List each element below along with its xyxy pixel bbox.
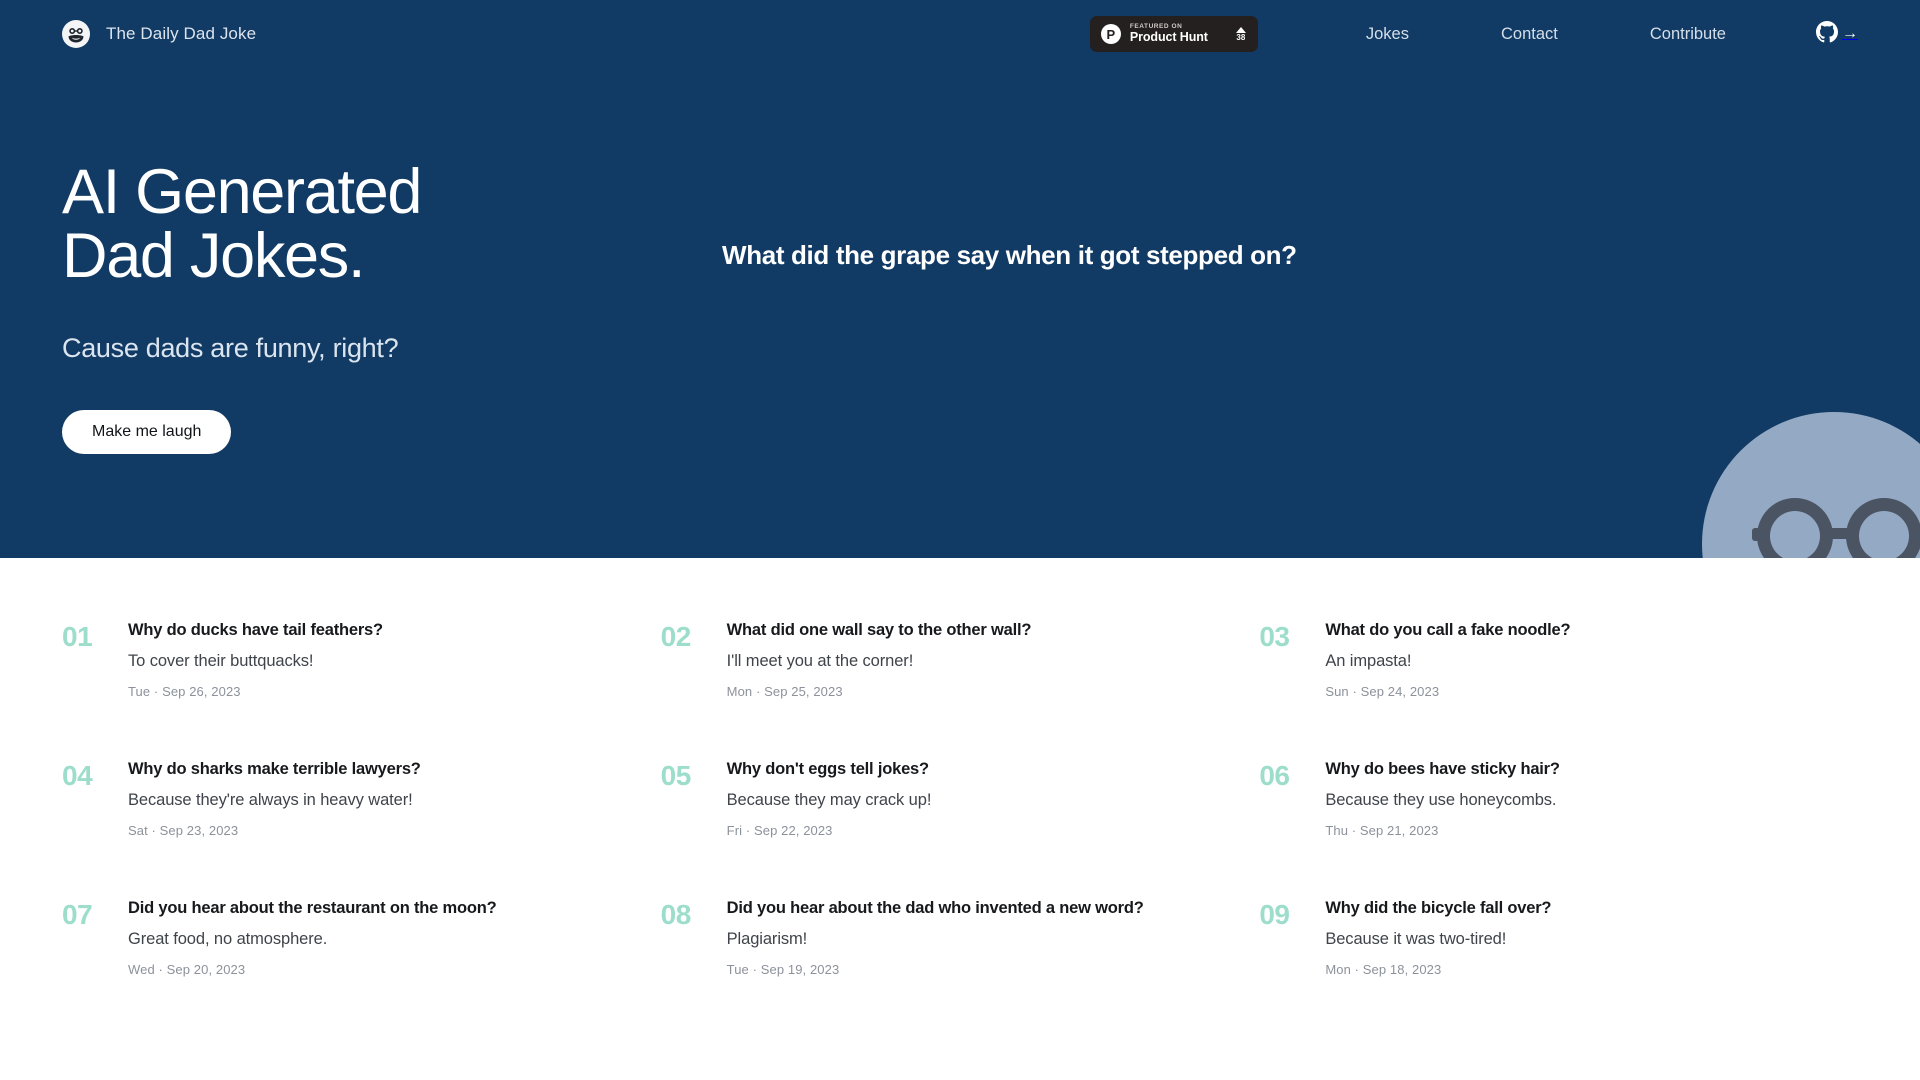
featured-joke-text: What did the grape say when it got stepp…: [722, 240, 1858, 271]
joke-answer: Because they may crack up!: [727, 790, 932, 811]
product-hunt-text: FEATURED ON Product Hunt: [1130, 23, 1208, 45]
joke-body: What do you call a fake noodle? An impas…: [1325, 620, 1570, 699]
joke-question: Did you hear about the restaurant on the…: [128, 898, 497, 919]
joke-date: Mon · Sep 25, 2023: [727, 684, 1032, 699]
joke-card[interactable]: 01 Why do ducks have tail feathers? To c…: [62, 620, 661, 699]
product-hunt-icon: P: [1101, 24, 1121, 44]
joke-body: Did you hear about the restaurant on the…: [128, 898, 497, 977]
joke-number: 07: [62, 898, 106, 977]
joke-body: Why do ducks have tail feathers? To cove…: [128, 620, 383, 699]
joke-question: Why don't eggs tell jokes?: [727, 759, 932, 780]
joke-date: Fri · Sep 22, 2023: [727, 823, 932, 838]
joke-answer: An impasta!: [1325, 651, 1570, 672]
joke-card[interactable]: 08 Did you hear about the dad who invent…: [661, 898, 1260, 977]
joke-card[interactable]: 03 What do you call a fake noodle? An im…: [1259, 620, 1858, 699]
hero-section: AI Generated Dad Jokes. Cause dads are f…: [0, 68, 1920, 558]
product-hunt-kicker: FEATURED ON: [1130, 23, 1208, 30]
dad-face-icon: [62, 20, 90, 48]
joke-card[interactable]: 05 Why don't eggs tell jokes? Because th…: [661, 759, 1260, 838]
site-header: The Daily Dad Joke P FEATURED ON Product…: [0, 0, 1920, 68]
brand-name: The Daily Dad Joke: [106, 24, 256, 44]
joke-card[interactable]: 09 Why did the bicycle fall over? Becaus…: [1259, 898, 1858, 977]
jokes-grid: 01 Why do ducks have tail feathers? To c…: [62, 620, 1858, 977]
joke-answer: To cover their buttquacks!: [128, 651, 383, 672]
joke-answer: Because it was two-tired!: [1325, 929, 1551, 950]
joke-date: Mon · Sep 18, 2023: [1325, 962, 1551, 977]
brand-logo-link[interactable]: The Daily Dad Joke: [62, 20, 256, 48]
joke-date: Thu · Sep 21, 2023: [1325, 823, 1559, 838]
nav-link-jokes[interactable]: Jokes: [1320, 25, 1455, 44]
hero-right-column: What did the grape say when it got stepp…: [662, 68, 1858, 454]
joke-date: Sat · Sep 23, 2023: [128, 823, 421, 838]
joke-card[interactable]: 06 Why do bees have sticky hair? Because…: [1259, 759, 1858, 838]
joke-number: 02: [661, 620, 705, 699]
joke-date: Tue · Sep 26, 2023: [128, 684, 383, 699]
joke-body: Why do sharks make terrible lawyers? Bec…: [128, 759, 421, 838]
joke-question: Why do bees have sticky hair?: [1325, 759, 1559, 780]
product-hunt-vote-count: 38: [1236, 34, 1245, 42]
joke-date: Tue · Sep 19, 2023: [727, 962, 1144, 977]
nav-link-contact[interactable]: Contact: [1455, 25, 1604, 44]
jokes-section: 01 Why do ducks have tail feathers? To c…: [0, 558, 1920, 977]
hero-subtitle: Cause dads are funny, right?: [62, 333, 662, 364]
joke-number: 05: [661, 759, 705, 838]
github-link[interactable]: →: [1772, 21, 1858, 48]
page-title: AI Generated Dad Jokes.: [62, 160, 662, 289]
joke-answer: I'll meet you at the corner!: [727, 651, 1032, 672]
joke-answer: Plagiarism!: [727, 929, 1144, 950]
primary-nav: Jokes Contact Contribute: [1320, 25, 1772, 44]
hero-content: AI Generated Dad Jokes. Cause dads are f…: [0, 68, 1920, 454]
nav-link-contribute[interactable]: Contribute: [1604, 25, 1772, 44]
joke-question: Did you hear about the dad who invented …: [727, 898, 1144, 919]
joke-body: What did one wall say to the other wall?…: [727, 620, 1032, 699]
joke-card[interactable]: 04 Why do sharks make terrible lawyers? …: [62, 759, 661, 838]
product-hunt-title: Product Hunt: [1130, 30, 1208, 44]
joke-number: 03: [1259, 620, 1303, 699]
joke-number: 04: [62, 759, 106, 838]
joke-answer: Because they use honeycombs.: [1325, 790, 1559, 811]
header-right-group: P FEATURED ON Product Hunt 38 Jokes Cont…: [1090, 16, 1858, 52]
joke-body: Why did the bicycle fall over? Because i…: [1325, 898, 1551, 977]
joke-number: 01: [62, 620, 106, 699]
product-hunt-upvotes[interactable]: 38: [1236, 27, 1246, 42]
hero-left-column: AI Generated Dad Jokes. Cause dads are f…: [62, 68, 662, 454]
arrow-right-icon: →: [1842, 26, 1858, 42]
joke-question: What did one wall say to the other wall?: [727, 620, 1032, 641]
joke-question: Why do sharks make terrible lawyers?: [128, 759, 421, 780]
joke-date: Wed · Sep 20, 2023: [128, 962, 497, 977]
product-hunt-badge[interactable]: P FEATURED ON Product Hunt 38: [1090, 16, 1258, 52]
github-icon: [1816, 21, 1838, 48]
joke-question: Why do ducks have tail feathers?: [128, 620, 383, 641]
joke-body: Did you hear about the dad who invented …: [727, 898, 1144, 977]
joke-number: 06: [1259, 759, 1303, 838]
joke-number: 09: [1259, 898, 1303, 977]
joke-question: Why did the bicycle fall over?: [1325, 898, 1551, 919]
joke-date: Sun · Sep 24, 2023: [1325, 684, 1570, 699]
joke-card[interactable]: 07 Did you hear about the restaurant on …: [62, 898, 661, 977]
joke-body: Why do bees have sticky hair? Because th…: [1325, 759, 1559, 838]
joke-answer: Great food, no atmosphere.: [128, 929, 497, 950]
make-me-laugh-button[interactable]: Make me laugh: [62, 410, 231, 454]
joke-card[interactable]: 02 What did one wall say to the other wa…: [661, 620, 1260, 699]
caret-up-icon: [1236, 27, 1246, 33]
joke-answer: Because they're always in heavy water!: [128, 790, 421, 811]
joke-question: What do you call a fake noodle?: [1325, 620, 1570, 641]
joke-body: Why don't eggs tell jokes? Because they …: [727, 759, 932, 838]
joke-number: 08: [661, 898, 705, 977]
